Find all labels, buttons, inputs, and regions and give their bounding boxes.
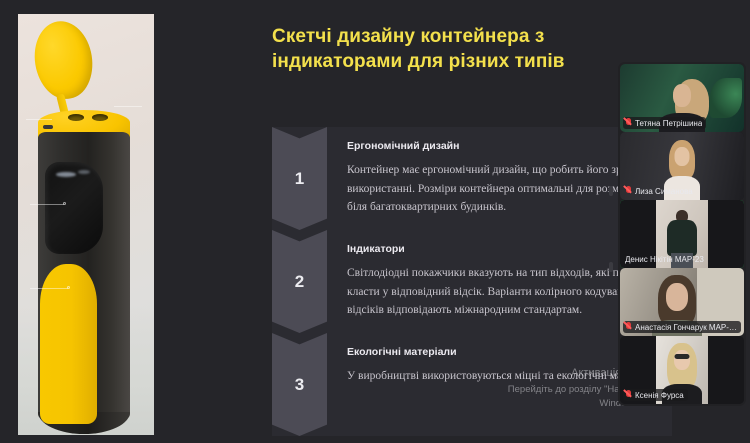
participant-name-bar: Лиза Симанова: [623, 185, 697, 197]
container-lid: [29, 17, 98, 103]
video-person-sunglasses: [675, 354, 690, 359]
participant-name: Лиза Симанова: [635, 187, 693, 196]
container-indicator-strip: [43, 125, 53, 129]
callout-dot-window: [63, 202, 66, 205]
video-person-face: [675, 147, 690, 166]
container-slot-b: [92, 114, 108, 121]
mic-muted-icon: [625, 186, 632, 196]
callout-dot-panel: [67, 286, 70, 289]
list-item: 3 Екологічні матеріали У виробництві вик…: [272, 333, 672, 436]
participant-name-bar: Ксенія Фурса: [623, 389, 688, 401]
presentation-screen: Скетчі дизайну контейнера з індикаторами…: [0, 0, 750, 443]
container-slot-a: [68, 114, 84, 121]
list-item: 2 Індикатори Світлодіодні покажчики вказ…: [272, 230, 672, 333]
step-number: 1: [295, 169, 304, 189]
callout-line-top: [26, 119, 52, 120]
callout-line-window: [30, 204, 64, 205]
mic-muted-icon: [625, 118, 632, 128]
steps-list: 1 Ергономічний дизайн Контейнер має ерго…: [272, 127, 672, 436]
video-person-face: [673, 84, 691, 107]
step-number-badge: 3: [272, 333, 327, 436]
page-title: Скетчі дизайну контейнера з індикаторами…: [272, 24, 632, 74]
mic-muted-icon: [625, 322, 632, 332]
participant-name: Тетяна Петрішина: [635, 119, 702, 128]
participant-name: Ксенія Фурса: [635, 391, 684, 400]
step-number-badge: 1: [272, 127, 327, 230]
step-number: 2: [295, 272, 304, 292]
video-person-face: [674, 350, 690, 370]
scrollbar-thumb-upper[interactable]: [609, 186, 613, 196]
participant-name: Денис Нікітін MAP-23: [625, 255, 704, 264]
participant-name: Анастасія Гончарук MAP-23: [635, 323, 737, 332]
participant-name-bar: Тетяна Петрішина: [623, 117, 706, 129]
window-highlight: [56, 172, 76, 177]
participant-tile-active-speaker[interactable]: Денис Нікітін MAP-23: [620, 200, 744, 268]
participant-name-bar: Денис Нікітін MAP-23: [623, 254, 708, 265]
scrollbar-thumb-lower[interactable]: [609, 262, 613, 272]
list-item: 1 Ергономічний дизайн Контейнер має ерго…: [272, 127, 672, 230]
participant-tile[interactable]: Ксенія Фурса: [620, 336, 744, 404]
video-plant: [710, 78, 742, 118]
step-number-badge: 2: [272, 230, 327, 333]
video-person-face: [666, 283, 688, 311]
product-image: [18, 14, 154, 435]
callout-line-right: [114, 106, 142, 107]
window-highlight-secondary: [78, 170, 90, 174]
step-number: 3: [295, 375, 304, 395]
video-participant-rail[interactable]: Тетяна Петрішина Лиза Симанова Денис: [618, 62, 746, 406]
participant-name-bar: Анастасія Гончарук MAP-23: [623, 321, 741, 333]
participant-tile[interactable]: Анастасія Гончарук MAP-23: [620, 268, 744, 336]
callout-line-panel: [30, 288, 68, 289]
participant-tile[interactable]: Тетяна Петрішина: [620, 64, 744, 132]
video-person-body: [667, 220, 697, 256]
mic-muted-icon: [625, 390, 632, 400]
participant-tile[interactable]: Лиза Симанова: [620, 132, 744, 200]
